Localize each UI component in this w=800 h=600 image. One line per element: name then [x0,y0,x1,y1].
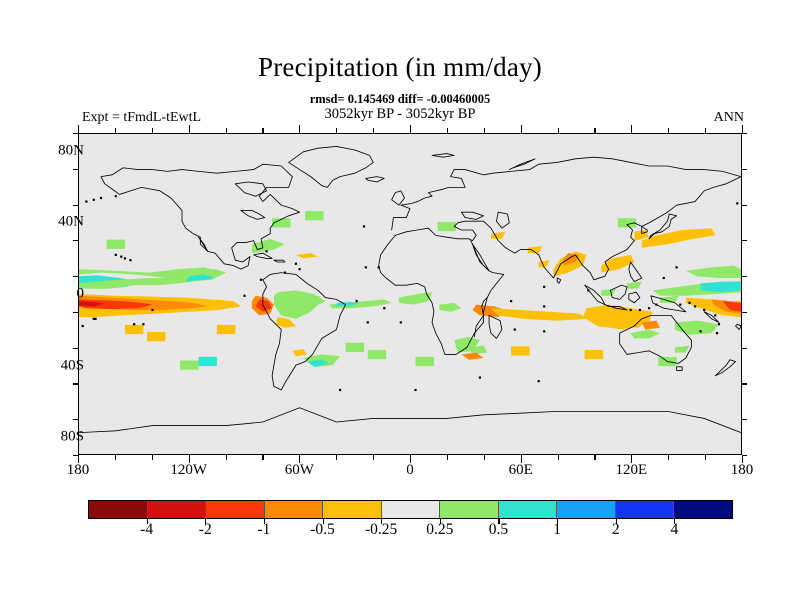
x-tick-bottom [705,455,706,460]
x-tick-top [115,128,116,133]
x-tick-bottom [594,455,595,460]
y-tick-left [73,419,78,420]
rmsd-subtitle: rmsd= 0.145469 diff= -0.00460005 [0,92,800,107]
coastline-path [274,260,285,262]
island-marker [82,325,84,327]
island-marker [400,321,402,323]
season-label: ANN [714,110,744,126]
data-patch-coral-sea-wet [675,321,719,335]
y-tick-right [742,348,747,349]
x-tick-top [262,128,263,133]
x-tick-bottom [373,455,374,460]
coastline-path [241,210,265,219]
coastline-path [366,177,384,182]
y-axis-label: 0 [77,286,85,303]
x-axis-label: 120W [170,462,207,479]
coastline-path [557,278,561,283]
colorbar-cell [205,501,264,518]
y-tick-right [742,312,747,313]
data-patch-south-indian-dry-band [491,308,587,320]
x-tick-top [226,128,227,133]
island-marker [363,225,365,227]
coastline-path [432,154,454,158]
data-patch-speck-15 [180,360,198,369]
island-marker [688,302,690,304]
island-marker [514,328,516,330]
island-marker [115,195,117,197]
x-tick-bottom [262,455,263,460]
colorbar-tick [264,519,265,524]
island-marker [703,309,705,311]
colorbar-tick [381,519,382,524]
data-patch-speck-5 [368,350,386,359]
x-tick-top [558,128,559,133]
coastline-path [392,157,741,230]
coastline-path [736,324,741,329]
x-tick-bottom [336,455,337,460]
x-axis-label: 60E [509,462,533,479]
x-tick-top [631,125,632,133]
data-patch-south-africa-dry [461,353,483,360]
island-marker [718,323,720,325]
island-marker [543,286,545,288]
x-tick-bottom [447,455,448,460]
island-marker [129,259,131,261]
x-axis-label: 0 [406,462,414,479]
island-marker [260,279,262,281]
coastline-layer [79,146,741,432]
island-marker [151,309,153,311]
experiment-label: Expt = tFmdL-tEwtL [82,110,201,126]
coastline-path [677,367,683,371]
island-marker [630,309,632,311]
colorbar [88,500,733,519]
x-tick-top [78,125,79,133]
data-patch-speck-6 [415,357,433,366]
y-tick-left [73,276,78,277]
data-patch-speck-2 [217,325,235,334]
island-marker [85,200,87,202]
x-tick-top [299,125,300,133]
island-marker [365,266,367,268]
island-marker [133,323,135,325]
island-marker [639,309,641,311]
data-patch-north-pacific-subtropical-wet [686,266,741,278]
island-marker [378,266,380,268]
island-marker [414,389,416,391]
colorbar-cell [381,501,440,518]
colorbar-cell [556,501,615,518]
y-tick-left [73,205,78,206]
x-tick-top [668,128,669,133]
page-title: Precipitation (in mm/day) [0,52,800,83]
data-patch-bolivia-dry [276,317,296,328]
island-marker [356,300,358,302]
data-patch-dateline-equatorial-wet [701,282,741,293]
data-patch-northwest-pacific-dry [642,228,716,248]
colorbar-tick [147,519,148,524]
x-axis-label: 180 [731,462,754,479]
island-marker [367,321,369,323]
x-tick-bottom [152,455,153,460]
data-patch-congo-wet [439,303,461,312]
data-patch-speck-12 [438,222,456,231]
x-axis-label: 120E [615,462,647,479]
y-tick-right [742,205,747,206]
island-marker [538,380,540,382]
island-marker [655,304,657,306]
x-tick-top [705,128,706,133]
coastline-path [629,262,642,282]
y-tick-left [73,455,78,456]
x-tick-bottom [115,455,116,460]
x-tick-top [594,128,595,133]
colorbar-cell [89,501,147,518]
x-tick-bottom [484,455,485,460]
coastline-path [79,408,741,433]
data-patch-north-australia-wet [631,330,660,339]
y-tick-left [73,312,78,313]
x-tick-top [521,125,522,133]
island-marker [120,256,122,258]
data-patch-florida-wet-halo [252,239,285,253]
colorbar-tick [616,519,617,524]
island-marker [383,307,385,309]
y-tick-right [742,383,747,384]
y-tick-left [73,383,78,384]
y-tick-left [73,348,78,349]
x-tick-bottom [668,455,669,460]
island-marker [115,254,117,256]
island-marker [699,330,701,332]
coastline-path [489,315,502,338]
island-marker [543,305,545,307]
data-patch-speck-3 [107,240,125,249]
data-patch-middle-east-dry [491,232,506,239]
data-patch-west-atlantic-dry [296,253,318,258]
island-marker [93,199,95,201]
x-tick-top [336,128,337,133]
y-axis-label: 80S [61,429,84,446]
coastline-path [101,164,300,269]
island-marker [694,305,696,307]
data-patch-speck-7 [511,346,529,355]
x-tick-top [742,125,743,133]
colorbar-cell [264,501,323,518]
x-tick-bottom [226,455,227,460]
island-marker [675,266,677,268]
x-tick-top [152,128,153,133]
colorbar-tick [440,519,441,524]
y-tick-right [742,240,747,241]
y-tick-left [73,240,78,241]
island-marker [679,304,681,306]
colorbar-cell [439,501,498,518]
data-patch-speck-8 [585,350,603,359]
x-tick-top [373,128,374,133]
coastline-path [235,182,266,196]
coastline-path [254,253,272,258]
coastline-path [496,212,509,228]
coastline-path [473,244,490,271]
coastline-path [629,292,640,303]
coastline-path [461,212,483,219]
island-marker [479,376,481,378]
colorbar-cells [88,500,733,519]
data-patch-tasman-wet [675,346,690,353]
colorbar-cell [147,501,206,518]
island-marker [339,389,341,391]
y-tick-right [742,133,747,134]
data-patch-ne-brazil-wet [303,296,325,307]
x-tick-top [410,125,411,133]
y-axis-label: 80N [58,142,84,159]
island-marker [510,300,512,302]
y-tick-left [73,169,78,170]
data-patch-arabian-sea-dry [539,260,550,267]
island-marker [295,263,297,265]
island-marker [663,277,665,279]
x-tick-top [447,128,448,133]
island-marker [124,257,126,259]
y-tick-right [742,169,747,170]
x-tick-top [189,125,190,133]
colorbar-tick [323,519,324,524]
map-plot-area [78,133,742,455]
precipitation-anomaly-layer [79,211,741,370]
colorbar-tick [205,519,206,524]
island-marker [299,268,301,270]
y-tick-right [742,419,747,420]
colorbar-cell [615,501,674,518]
coastline-path [263,273,346,390]
colorbar-cell [673,501,732,518]
island-marker [100,197,102,199]
y-axis-label: 40N [58,214,84,231]
island-marker [587,289,589,291]
coastline-path [715,360,735,376]
x-tick-top [484,128,485,133]
x-tick-bottom [558,455,559,460]
x-axis-label: 60W [285,462,314,479]
colorbar-tick [674,519,675,524]
data-patch-speck-1 [147,332,165,341]
island-marker [265,250,267,252]
data-patch-argentina-dry [292,349,307,356]
data-patch-speck-4 [346,343,364,352]
island-marker [243,295,245,297]
colorbar-cell [498,501,557,518]
colorbar-cell [322,501,381,518]
data-patch-speck-11 [305,211,323,220]
island-marker [543,330,545,332]
data-patch-speck-14 [199,357,217,366]
island-marker [736,202,738,204]
island-marker [284,272,286,274]
island-marker [716,332,718,334]
colorbar-tick [557,519,558,524]
y-tick-right [742,276,747,277]
coastline-path [509,159,535,170]
coastline-path [289,146,374,187]
coastline-path [392,191,405,205]
y-axis-label: 40S [61,357,84,374]
data-patch-speck-0 [125,325,143,334]
y-tick-right [742,455,747,456]
island-marker [714,314,716,316]
island-marker [142,323,144,325]
data-patch-philippines-wet [627,282,642,289]
map-canvas [79,134,741,454]
x-axis-label: 180 [67,462,90,479]
data-patch-borneo-wet [601,289,616,296]
colorbar-tick [498,519,499,524]
island-marker [648,307,650,309]
island-marker [94,318,96,320]
y-tick-left [73,133,78,134]
